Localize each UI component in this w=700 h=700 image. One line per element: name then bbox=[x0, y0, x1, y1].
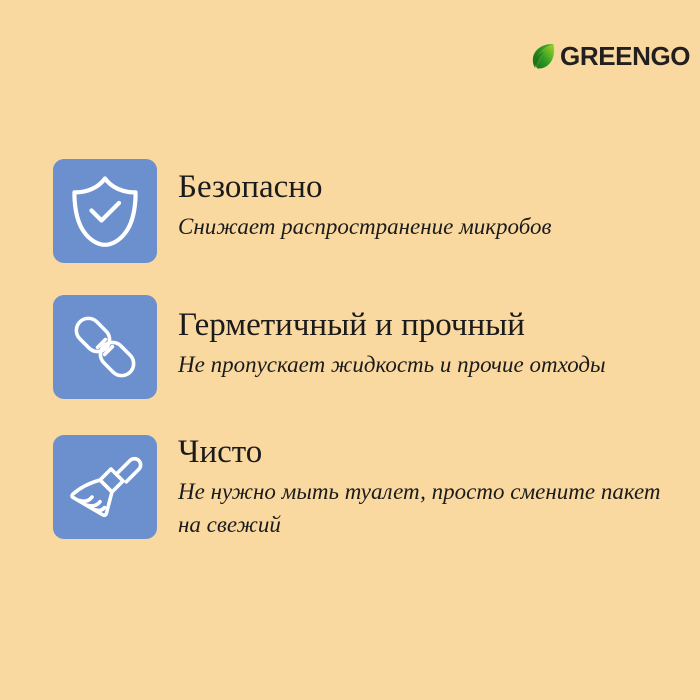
promo-poster: GREENGO Безопасно Снижает распространени… bbox=[0, 0, 700, 700]
feature-text-block: Чисто Не нужно мыть туалет, просто смени… bbox=[178, 436, 663, 541]
feature-icon-tile-sealed[interactable] bbox=[53, 295, 157, 399]
leaf-icon bbox=[529, 41, 559, 71]
feature-icon-tile-clean[interactable] bbox=[53, 435, 157, 539]
broom-icon bbox=[67, 449, 143, 525]
feature-row: Безопасно Снижает распространение микроб… bbox=[53, 159, 663, 263]
shield-check-icon bbox=[69, 173, 141, 249]
feature-row: Герметичный и прочный Не пропускает жидк… bbox=[53, 295, 663, 399]
feature-subtitle: Снижает распространение микробов bbox=[178, 210, 663, 243]
feature-title: Чисто bbox=[178, 436, 663, 470]
feature-text-block: Герметичный и прочный Не пропускает жидк… bbox=[178, 309, 663, 381]
feature-icon-tile-safe[interactable] bbox=[53, 159, 157, 263]
feature-subtitle: Не нужно мыть туалет, просто смените пак… bbox=[178, 475, 663, 542]
feature-title: Безопасно bbox=[178, 171, 663, 205]
brand-name: GREENGO bbox=[560, 43, 690, 69]
chain-link-icon bbox=[69, 309, 141, 385]
feature-text-block: Безопасно Снижает распространение микроб… bbox=[178, 171, 663, 243]
brand-logo[interactable]: GREENGO bbox=[529, 41, 690, 71]
feature-title: Герметичный и прочный bbox=[178, 309, 663, 343]
feature-subtitle: Не пропускает жидкость и прочие отходы bbox=[178, 348, 663, 381]
feature-row: Чисто Не нужно мыть туалет, просто смени… bbox=[53, 435, 663, 539]
